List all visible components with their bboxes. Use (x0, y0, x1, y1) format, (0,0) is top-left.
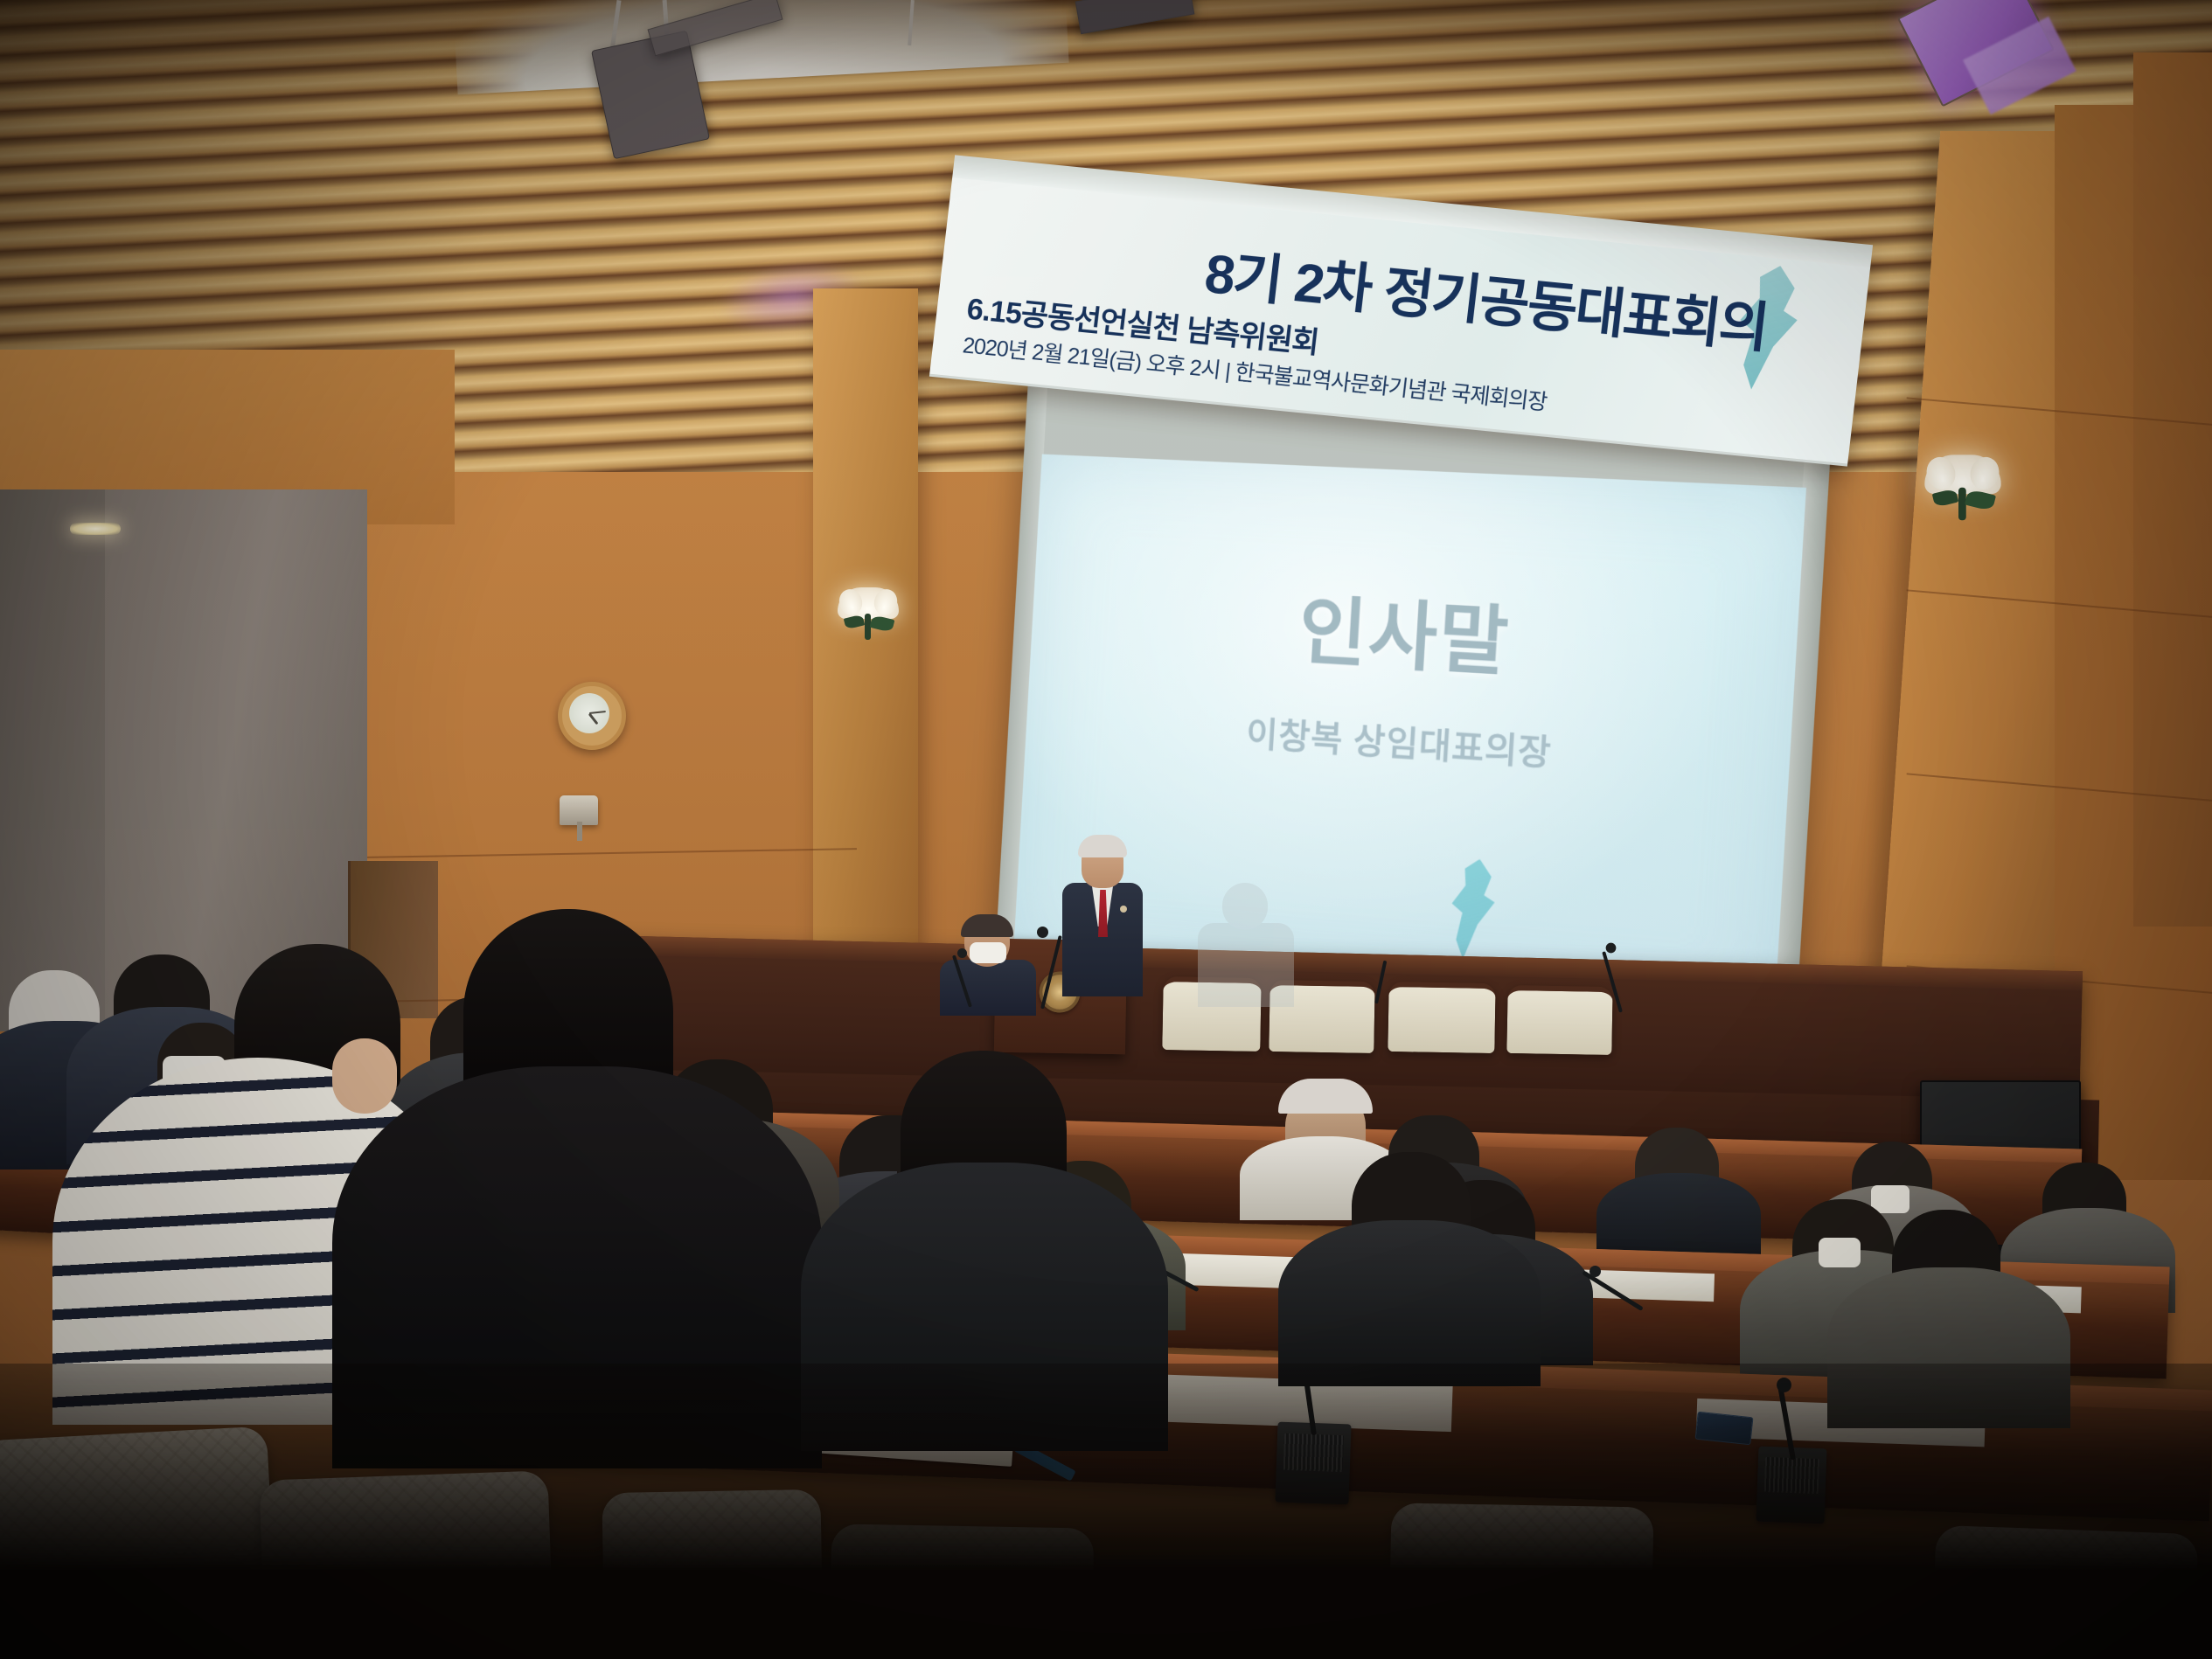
wall-left-gray-panel-edge (0, 489, 105, 1031)
lotus-wall-sconce (838, 587, 899, 642)
clock-minute-hand (589, 711, 606, 714)
official-hair (961, 914, 1013, 937)
microphone-head-icon (957, 948, 967, 958)
wall-mounted-device (560, 795, 598, 825)
figure-torso (1198, 923, 1294, 1007)
figure-head (1222, 883, 1268, 930)
microphone-head-icon (1606, 943, 1617, 954)
face-mask (970, 942, 1006, 963)
face-mask (1871, 1185, 1909, 1213)
stage-chair (1388, 982, 1495, 1053)
stage-chair (1506, 985, 1612, 1055)
blurred-seated-figure (1198, 883, 1294, 1005)
microphone-head-icon (1037, 927, 1048, 938)
wall-device-arm (577, 822, 582, 841)
attendee-hand (332, 1038, 397, 1114)
speaker-hair (1078, 835, 1127, 857)
speaker-lapel-pin (1120, 906, 1127, 913)
clock-hour-hand (588, 713, 599, 725)
face-mask (1819, 1238, 1861, 1267)
audience-person-hair (1278, 1079, 1373, 1114)
foreground-shadow (0, 1364, 2212, 1659)
wall-clock (558, 682, 626, 750)
audience-person-torso (1278, 1220, 1541, 1386)
lotus-wall-sconce (1924, 455, 2001, 523)
recessed-ceiling-light (70, 523, 121, 535)
seated-official (940, 918, 1036, 1014)
official-torso (940, 960, 1036, 1016)
microphone-head-icon (1589, 1266, 1601, 1277)
clock-face (569, 693, 609, 733)
podium-speaker (1062, 839, 1143, 996)
conference-hall-photo: 인사말 이창복 상임대표의장 8기 2차 정기공동대표회의 6.15공동선언실천… (0, 0, 2212, 1659)
